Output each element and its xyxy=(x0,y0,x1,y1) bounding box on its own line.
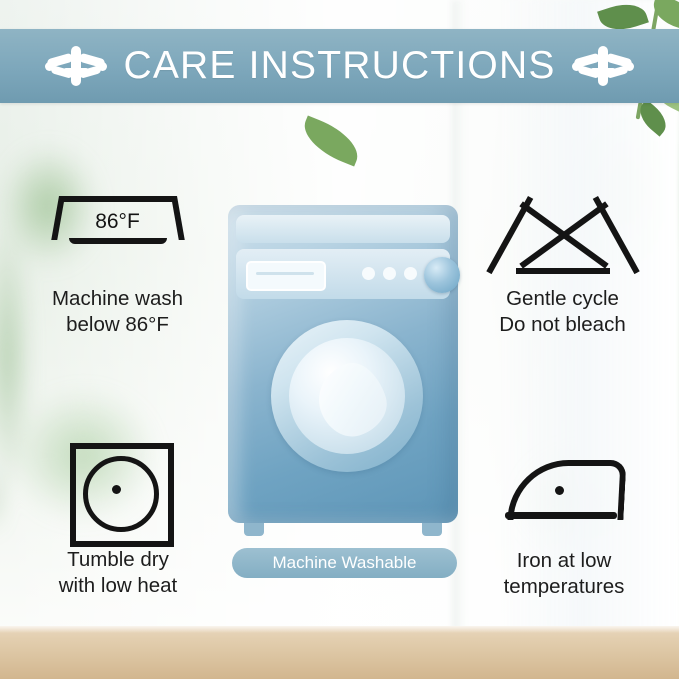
washer-foot-left xyxy=(244,523,264,536)
care-symbol-machine-wash: 86°F Machine wash below 86°F xyxy=(10,196,225,338)
tumble-dry-square-icon xyxy=(70,443,166,539)
header-banner: CARE INSTRUCTIONS xyxy=(0,29,679,103)
washer-door-glass xyxy=(289,338,405,454)
care-instructions-graphic: CARE INSTRUCTIONS Machine Washable xyxy=(0,0,679,679)
panel-indicator-1-icon xyxy=(362,267,375,280)
wash-basin-icon: 86°F xyxy=(59,196,177,276)
fleur-de-lis-icon-left xyxy=(45,44,107,88)
washing-machine-illustration xyxy=(228,205,458,535)
triangle-crossed-bleach-icon xyxy=(513,196,613,276)
wash-temperature-value: 86°F xyxy=(59,210,177,234)
care-symbol-caption: Gentle cycle Do not bleach xyxy=(455,286,670,338)
door-reflection xyxy=(309,356,394,445)
care-symbol-caption: Machine wash below 86°F xyxy=(10,286,225,338)
washer-door xyxy=(271,320,423,472)
care-symbol-iron-low: Iron at low temperatures xyxy=(458,448,670,600)
washer-top-lid xyxy=(236,215,450,243)
page-title: CARE INSTRUCTIONS xyxy=(107,44,571,88)
panel-indicator-2-icon xyxy=(383,267,396,280)
machine-washable-label: Machine Washable xyxy=(273,553,417,573)
iron-icon xyxy=(509,448,619,540)
washer-control-panel xyxy=(236,249,450,299)
panel-indicator-3-icon xyxy=(404,267,417,280)
detergent-drawer-icon xyxy=(246,261,326,291)
care-symbol-gentle-cycle-no-bleach: Gentle cycle Do not bleach xyxy=(455,196,670,338)
washer-foot-right xyxy=(422,523,442,536)
fleur-de-lis-icon-right xyxy=(572,44,634,88)
care-symbol-tumble-dry-low: Tumble dry with low heat xyxy=(12,443,224,599)
care-symbol-caption: Tumble dry with low heat xyxy=(12,547,224,599)
background-table-surface xyxy=(0,626,679,679)
machine-washable-badge: Machine Washable xyxy=(232,548,457,578)
care-symbol-caption: Iron at low temperatures xyxy=(458,548,670,600)
